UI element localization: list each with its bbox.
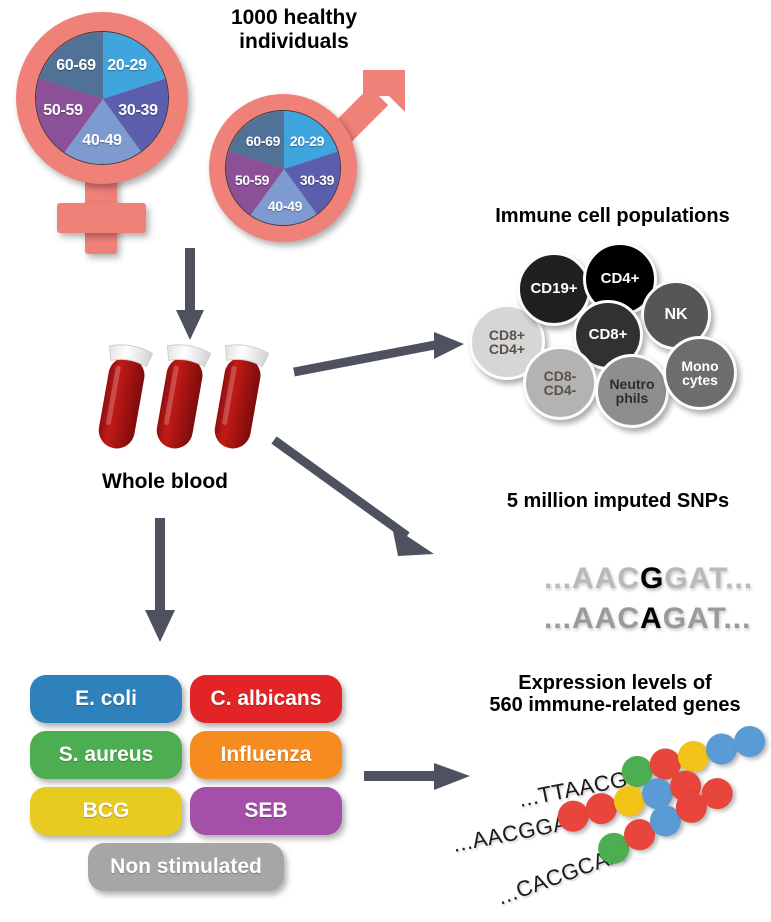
gene-bead [731,723,767,759]
stimulus-non-stimulated[interactable]: Non stimulated [88,843,284,891]
stimulus-e-coli[interactable]: E. coli [30,675,182,723]
cell-cd8neg-cd4neg: CD8- CD4- [523,346,597,420]
female-pie-label-40-49: 40-49 [82,132,121,150]
arrow-blood-to-immune [292,330,472,380]
snps-heading: 5 million imputed SNPs [468,490,768,512]
immune-heading: Immune cell populations [460,205,765,227]
blood-tube [150,342,211,452]
arrow-blood-to-snps [272,438,452,568]
cell-label: NK [664,307,687,323]
male-pie-label-50-59: 50-59 [235,172,269,188]
cell-monocytes: Mono cytes [663,336,737,410]
cell-label: CD19+ [530,281,577,296]
stimulus-label: Influenza [220,743,311,767]
stimulus-label: C. albicans [211,687,322,711]
stimulus-label: BCG [83,799,130,823]
blood-tube [208,342,269,452]
stimulus-label: Non stimulated [110,855,262,879]
male-pie-label-40-49: 40-49 [268,198,302,214]
cell-label: CD8+ [589,327,628,342]
gene-strands: ...TTAACGG ...AACGGAT ...CACGCAA [440,735,771,915]
snp-sequence-row: ...AACAGAT... [488,568,751,670]
immune-cell-cluster: CD8+ CD4+ CD19+ CD4+ NK CD8+ CD8- CD4- N… [465,238,760,428]
blood-tube [95,342,153,452]
cell-label: CD8+ CD4+ [489,328,525,357]
cohort-heading: 1000 healthy individuals [176,6,412,53]
arrow-blood-to-stimuli [140,518,180,648]
snp-prefix: ...AAC [544,602,640,635]
male-pie-label-60-69: 60-69 [246,133,280,149]
stimulus-label: S. aureus [59,743,154,767]
male-symbol: 20-29 30-39 40-49 50-59 60-69 [205,60,420,245]
cell-label: CD4+ [601,271,640,286]
cell-label: Neutro phils [609,377,654,406]
genes-heading: Expression levels of 560 immune-related … [465,672,765,717]
whole-blood-label: Whole blood [55,470,275,494]
stimulus-label: E. coli [75,687,137,711]
stimulus-s-aureus[interactable]: S. aureus [30,731,182,779]
figure-canvas: 20-29 30-39 40-49 50-59 60-69 20-29 [0,0,771,922]
female-pie-label-20-29: 20-29 [107,57,146,75]
stimulus-seb[interactable]: SEB [190,787,342,835]
stimuli-panel: E. coli C. albicans S. aureus Influenza … [30,675,350,895]
cell-label: CD8- CD4- [544,369,577,398]
snp-sequences: ...AACGGAT... ...AACAGAT... [478,528,758,608]
male-pie-label-30-39: 30-39 [300,172,334,188]
blood-tubes [95,335,285,460]
snp-suffix: GAT... [663,602,752,635]
female-pie-label-30-39: 30-39 [118,102,157,120]
female-pie-label-50-59: 50-59 [43,102,82,120]
stimulus-influenza[interactable]: Influenza [190,731,342,779]
female-pie-label-60-69: 60-69 [56,57,95,75]
stimulus-c-albicans[interactable]: C. albicans [190,675,342,723]
cell-neutrophils: Neutro phils [595,354,669,428]
male-pie-label-20-29: 20-29 [290,133,324,149]
stimulus-bcg[interactable]: BCG [30,787,182,835]
female-symbol: 20-29 30-39 40-49 50-59 60-69 [8,8,198,258]
snp-variant: A [640,602,663,635]
stimulus-label: SEB [244,799,287,823]
arrow-cohort-to-blood [170,248,210,348]
female-stem-horizontal [57,203,146,233]
cell-label: Mono cytes [681,359,718,388]
